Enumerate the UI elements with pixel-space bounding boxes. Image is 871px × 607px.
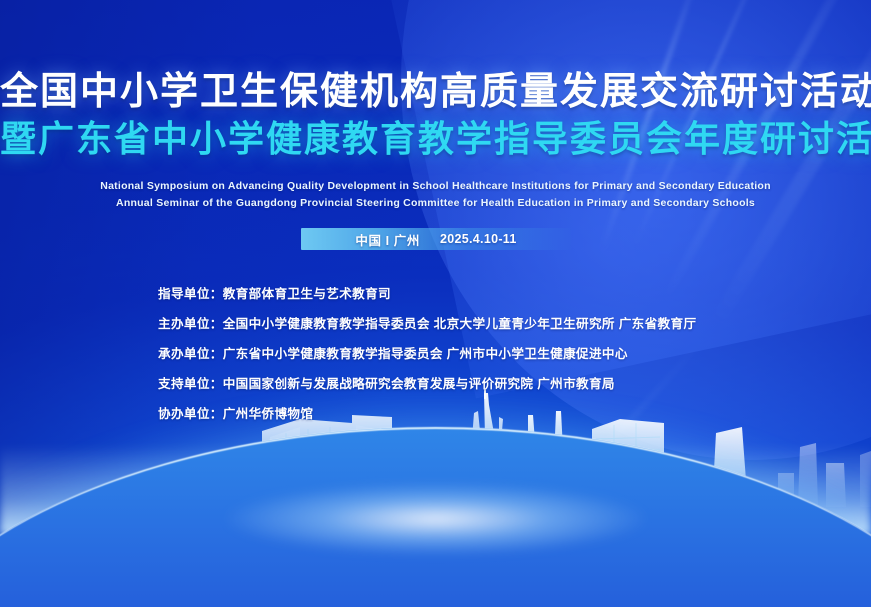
badge-city-label: 中国 I 广州 <box>355 230 420 249</box>
poster-subtitle: National Symposium on Advancing Quality … <box>0 178 871 212</box>
badge-date-label: 2025.4.10-11 <box>440 232 517 246</box>
organizer-row-coorganizer: 协办单位：广州华侨博物馆 <box>158 408 758 421</box>
organizer-list: 指导单位：教育部体育卫生与艺术教育司 主办单位：全国中小学健康教育教学指导委员会… <box>158 288 758 438</box>
title-line-1: 全国中小学卫生保健机构高质量发展交流研讨活动 <box>0 70 871 115</box>
poster-title: 全国中小学卫生保健机构高质量发展交流研讨活动 暨广东省中小学健康教育教学指导委员… <box>0 70 871 161</box>
organizer-row-organizer: 承办单位：广东省中小学健康教育教学指导委员会 广州市中小学卫生健康促进中心 <box>158 348 758 361</box>
subtitle-line-1: National Symposium on Advancing Quality … <box>0 178 871 195</box>
venue-date-badge: 中国 I 广州 2025.4.10-11 <box>301 228 571 250</box>
poster-content: 全国中小学卫生保健机构高质量发展交流研讨活动 暨广东省中小学健康教育教学指导委员… <box>0 0 871 607</box>
organizer-row-support: 支持单位：中国国家创新与发展战略研究会教育发展与评价研究院 广州市教育局 <box>158 378 758 391</box>
title-line-2: 暨广东省中小学健康教育教学指导委员会年度研讨活动 <box>0 117 871 161</box>
organizer-row-host: 主办单位：全国中小学健康教育教学指导委员会 北京大学儿童青少年卫生研究所 广东省… <box>158 318 758 331</box>
subtitle-line-2: Annual Seminar of the Guangdong Provinci… <box>0 195 871 212</box>
organizer-row-guidance: 指导单位：教育部体育卫生与艺术教育司 <box>158 288 758 301</box>
conference-poster: 全国中小学卫生保健机构高质量发展交流研讨活动 暨广东省中小学健康教育教学指导委员… <box>0 0 871 607</box>
